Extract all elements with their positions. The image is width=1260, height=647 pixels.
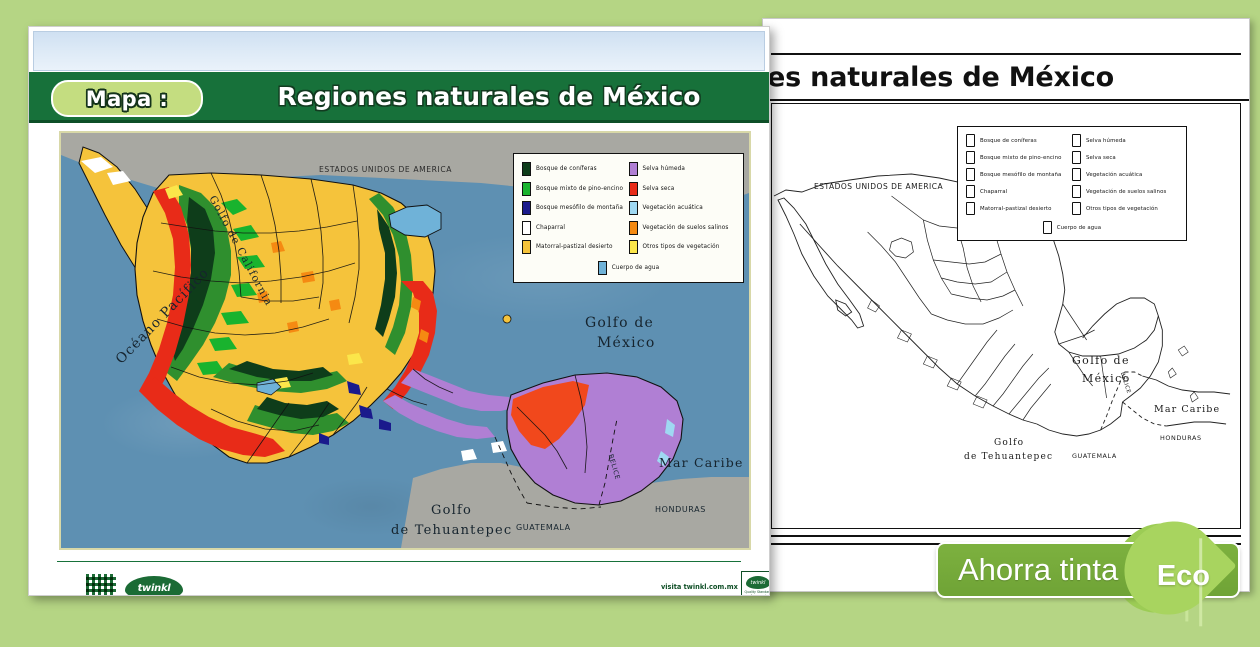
legend-swatch-icon [966, 168, 975, 181]
legend-swatch-icon [1043, 221, 1052, 234]
legend-item-bosque-pino-encino: Bosque mixto de pino-encino [522, 182, 629, 196]
bw-legend-item: Bosque mesófilo de montaña [966, 168, 1072, 181]
bw-legend-item: Bosque de coníferas [966, 134, 1072, 147]
label-mar-caribe: Mar Caribe [659, 455, 744, 470]
legend-item-otros-tipos: Otros tipos de vegetación [629, 240, 736, 254]
legend-swatch-icon [629, 201, 638, 215]
legend-swatch-icon [1072, 168, 1081, 181]
bw-legend-item: Vegetación de suelos salinos [1072, 185, 1178, 198]
page-top-banner [33, 31, 765, 71]
bw-legend-item: Otros tipos de vegetación [1072, 202, 1178, 215]
bw-label-estados-unidos: ESTADOS UNIDOS DE AMERICA [814, 182, 943, 191]
label-golfo: Golfo [431, 503, 472, 518]
legend-item-vegetacion-acuatica: Vegetación acuática [629, 201, 736, 215]
selva-humeda-istmo [401, 369, 517, 411]
legend-swatch-icon [966, 202, 975, 215]
bw-legend-label: Vegetación acuática [1086, 172, 1142, 178]
bw-legend-label: Bosque de coníferas [980, 138, 1037, 144]
bw-top-rule [771, 27, 1241, 55]
bw-legend-item: Chaparral [966, 185, 1072, 198]
legend-swatch-icon [522, 162, 531, 176]
eco-ribbon-label: Ahorra tinta [958, 552, 1118, 588]
bw-legend-left-column: Bosque de coníferas Bosque mixto de pino… [966, 134, 1072, 219]
bw-legend-label: Chaparral [980, 189, 1007, 195]
label-golfo-de: Golfo de [585, 315, 654, 331]
page-title: Regiones naturales de México [209, 72, 769, 120]
legend-label: Selva húmeda [643, 166, 686, 172]
legend-item-selva-humeda: Selva húmeda [629, 162, 736, 176]
legend-swatch-icon [1072, 185, 1081, 198]
bw-legend-item: Bosque mixto de pino-encino [966, 151, 1072, 164]
bw-legend-item: Matorral-pastizal desierto [966, 202, 1072, 215]
legend-swatch-icon [522, 240, 531, 254]
legend-label: Chaparral [536, 225, 565, 231]
legend-swatch-icon [629, 162, 638, 176]
bw-legend-label: Bosque mesófilo de montaña [980, 172, 1061, 178]
color-worksheet-page[interactable]: Mapa : Regiones naturales de México [28, 26, 770, 596]
legend-right-column: Selva húmeda Selva seca Vegetación acuát… [629, 162, 736, 260]
bw-map-canvas[interactable]: ESTADOS UNIDOS DE AMERICA Golfo de Méxic… [771, 103, 1241, 529]
legend-swatch-icon [966, 134, 975, 147]
bw-legend-label: Bosque mixto de pino-encino [980, 155, 1061, 161]
label-estados-unidos-de-america: ESTADOS UNIDOS DE AMERICA [319, 165, 452, 174]
bw-legend-label: Otros tipos de vegetación [1086, 206, 1158, 212]
quality-badge-caption: Quality Standard Approved [742, 590, 770, 596]
bw-legend-label: Selva húmeda [1086, 138, 1126, 144]
legend-label: Vegetación acuática [643, 205, 703, 211]
legend-swatch-icon [629, 182, 638, 196]
legend-label: Selva seca [643, 186, 675, 192]
legend-swatch-icon [966, 151, 975, 164]
eco-badge-label: Eco [1157, 560, 1210, 593]
quality-badge: twinkl Quality Standard Approved [741, 571, 770, 596]
bw-label-guatemala: GUATEMALA [1072, 452, 1117, 460]
legend-swatch-icon [1072, 202, 1081, 215]
legend-item-bosque-coniferas: Bosque de coníferas [522, 162, 629, 176]
legend-item-cuerpo-de-agua: Cuerpo de agua [522, 261, 735, 275]
bw-worksheet-page[interactable]: es naturales de México [762, 18, 1250, 592]
legend-swatch-icon [1072, 151, 1081, 164]
quality-badge-logo: twinkl [746, 576, 770, 589]
legend-item-selva-seca: Selva seca [629, 182, 736, 196]
mapa-badge: Mapa : [51, 80, 203, 117]
legend-swatch-icon [598, 261, 607, 275]
label-guatemala: GUATEMALA [516, 523, 571, 532]
legend-item-suelos-salinos: Vegetación de suelos salinos [629, 221, 736, 235]
footer-rule [57, 561, 741, 562]
bw-legend-label: Vegetación de suelos salinos [1086, 189, 1166, 195]
visit-url-label[interactable]: visita twinkl.com.mx [661, 583, 738, 591]
bw-legend-item: Selva húmeda [1072, 134, 1178, 147]
twinkl-logo[interactable]: twinkl [125, 576, 183, 596]
twinkl-logo-label: twinkl [138, 583, 171, 594]
legend-item-chaparral: Chaparral [522, 221, 629, 235]
bw-label-honduras: HONDURAS [1160, 434, 1202, 442]
legend-label: Vegetación de suelos salinos [643, 225, 729, 231]
legend-item-matorral-pastizal: Matorral-pastizal desierto [522, 240, 629, 254]
legend-label: Matorral-pastizal desierto [536, 244, 613, 250]
legend-label: Cuerpo de agua [612, 265, 660, 271]
legend-swatch-icon [629, 240, 638, 254]
quality-badge-brand: twinkl [751, 580, 766, 586]
bw-legend-item: Vegetación acuática [1072, 168, 1178, 181]
label-mexico: México [597, 335, 655, 351]
bw-legend-label: Matorral-pastizal desierto [980, 206, 1052, 212]
bw-page-title: es naturales de México [763, 55, 1250, 101]
legend-swatch-icon [966, 185, 975, 198]
eco-ribbon: Ahorra tinta Eco [930, 530, 1250, 606]
bw-legend-right-column: Selva húmeda Selva seca Vegetación acuát… [1072, 134, 1178, 219]
legend-swatch-icon [522, 201, 531, 215]
bw-label-golfo-de: Golfo de [1072, 354, 1130, 367]
color-map-canvas[interactable]: ESTADOS UNIDOS DE AMERICA Océano Pacífic… [59, 131, 751, 550]
mapa-badge-label: Mapa : [86, 87, 168, 111]
legend-label: Otros tipos de vegetación [643, 244, 720, 250]
bw-map-legend: Bosque de coníferas Bosque mixto de pino… [957, 126, 1187, 241]
legend-label: Bosque mesófilo de montaña [536, 205, 623, 211]
map-legend: Bosque de coníferas Bosque mixto de pino… [513, 153, 744, 283]
bw-legend-item-water: Cuerpo de agua [966, 221, 1178, 234]
bw-label-mar-caribe: Mar Caribe [1154, 404, 1220, 415]
label-de-tehuantepec: de Tehuantepec [391, 523, 512, 538]
legend-item-bosque-mesofilo: Bosque mesófilo de montaña [522, 201, 629, 215]
legend-swatch-icon [629, 221, 638, 235]
legend-left-column: Bosque de coníferas Bosque mixto de pino… [522, 162, 629, 260]
bw-legend-label: Cuerpo de agua [1057, 225, 1101, 231]
legend-swatch-icon [522, 221, 531, 235]
legend-label: Bosque de coníferas [536, 166, 597, 172]
page-title-bar: Mapa : Regiones naturales de México [29, 72, 769, 120]
legend-label: Bosque mixto de pino-encino [536, 186, 623, 192]
legend-swatch-icon [522, 182, 531, 196]
bw-label-de-tehuantepec: de Tehuantepec [964, 452, 1053, 462]
label-honduras: HONDURAS [655, 505, 706, 514]
bw-label-golfo: Golfo [994, 438, 1024, 448]
qr-code-icon[interactable] [85, 573, 117, 596]
legend-swatch-icon [1072, 134, 1081, 147]
bw-legend-label: Selva seca [1086, 155, 1116, 161]
bw-legend-item: Selva seca [1072, 151, 1178, 164]
